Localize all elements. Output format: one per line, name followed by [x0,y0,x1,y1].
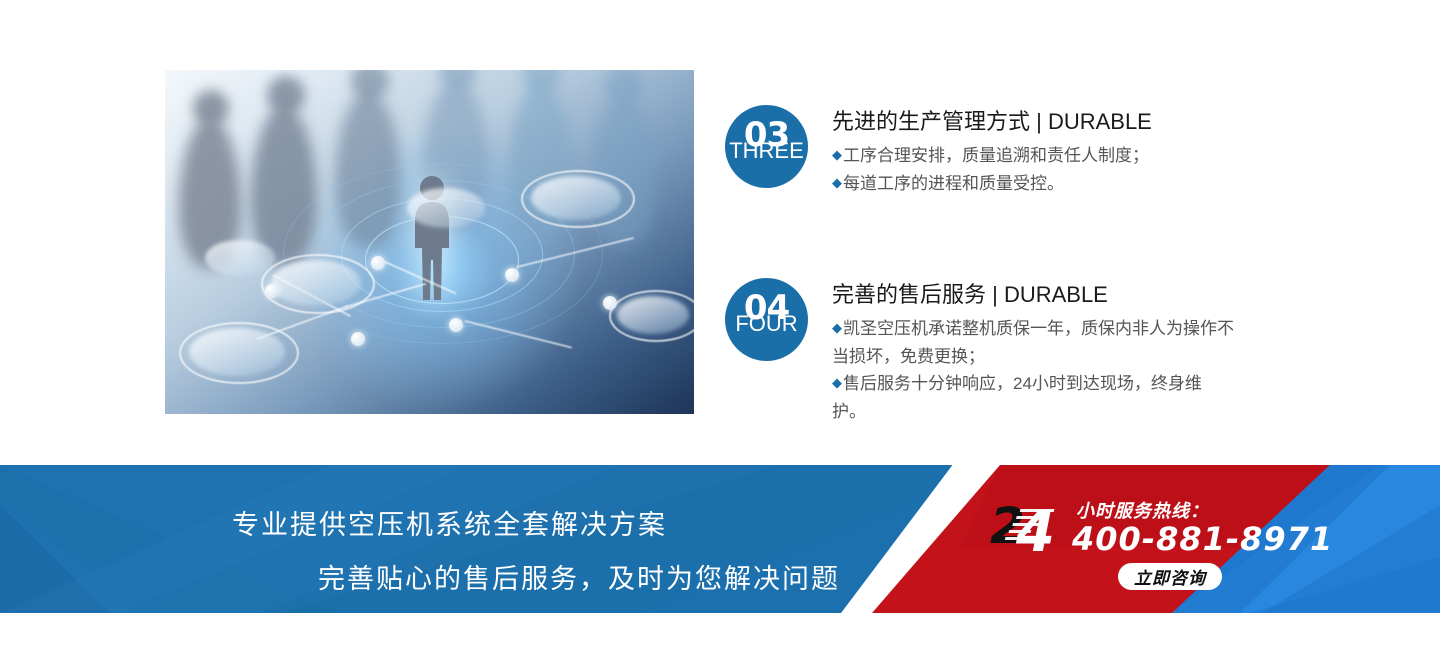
feature-bullet-line: ◆每道工序的进程和质量受控。 [832,170,1152,198]
slogan-line-2: 完善贴心的售后服务，及时为您解决问题 [318,557,840,596]
bullet-diamond-icon: ◆ [832,320,842,335]
feature-bullet-text: 售后服务十分钟响应，24小时到达现场，终身维护。 [832,374,1202,421]
hotline-block: 2 4 小时服务热线： 400-881-8971 立即咨询 [990,495,1290,610]
feature-title: 先进的生产管理方式 | DURABLE [832,107,1152,137]
hotline-24-graphic: 2 4 [990,495,1080,559]
feature-photo [165,70,694,414]
feature-bullet-line: ◆凯圣空压机承诺整机质保一年，质保内非人为操作不当损坏，免费更换； [832,315,1234,370]
consult-now-label: 立即咨询 [1134,564,1206,589]
feature-bullet-line: ◆工序合理安排，质量追溯和责任人制度； [832,142,1152,170]
feature-bullet-text: 凯圣空压机承诺整机质保一年，质保内非人为操作不当损坏，免费更换； [832,319,1234,366]
feature-item-04: 04 FOUR 完善的售后服务 | DURABLE ◆凯圣空压机承诺整机质保一年… [725,278,1234,425]
consult-now-button[interactable]: 立即咨询 [1118,563,1222,590]
feature-badge-03: 03 THREE [725,105,808,188]
slogan-line-1: 专业提供空压机系统全套解决方案 [232,503,667,542]
feature-badge-word: THREE [725,139,808,163]
feature-bullet-text: 工序合理安排，质量追溯和责任人制度； [843,146,1149,165]
bullet-diamond-icon: ◆ [832,147,842,162]
feature-item-03: 03 THREE 先进的生产管理方式 | DURABLE ◆工序合理安排，质量追… [725,105,1152,198]
feature-badge-word: FOUR [725,312,808,336]
hotline-number: 400-881-8971 [1072,520,1333,558]
feature-badge-04: 04 FOUR [725,278,808,361]
feature-bullet-line: ◆售后服务十分钟响应，24小时到达现场，终身维护。 [832,370,1234,425]
banner-slogan: 专业提供空压机系统全套解决方案 完善贴心的售后服务，及时为您解决问题 [0,465,920,613]
bullet-diamond-icon: ◆ [832,175,842,190]
feature-text-03: 先进的生产管理方式 | DURABLE ◆工序合理安排，质量追溯和责任人制度； … [832,105,1152,198]
bullet-diamond-icon: ◆ [832,375,842,390]
feature-text-04: 完善的售后服务 | DURABLE ◆凯圣空压机承诺整机质保一年，质保内非人为操… [832,278,1234,425]
feature-title: 完善的售后服务 | DURABLE [832,280,1234,310]
features-section: 03 THREE 先进的生产管理方式 | DURABLE ◆工序合理安排，质量追… [0,0,1440,465]
svg-text:4: 4 [1015,500,1055,559]
feature-bullet-text: 每道工序的进程和质量受控。 [843,174,1064,193]
